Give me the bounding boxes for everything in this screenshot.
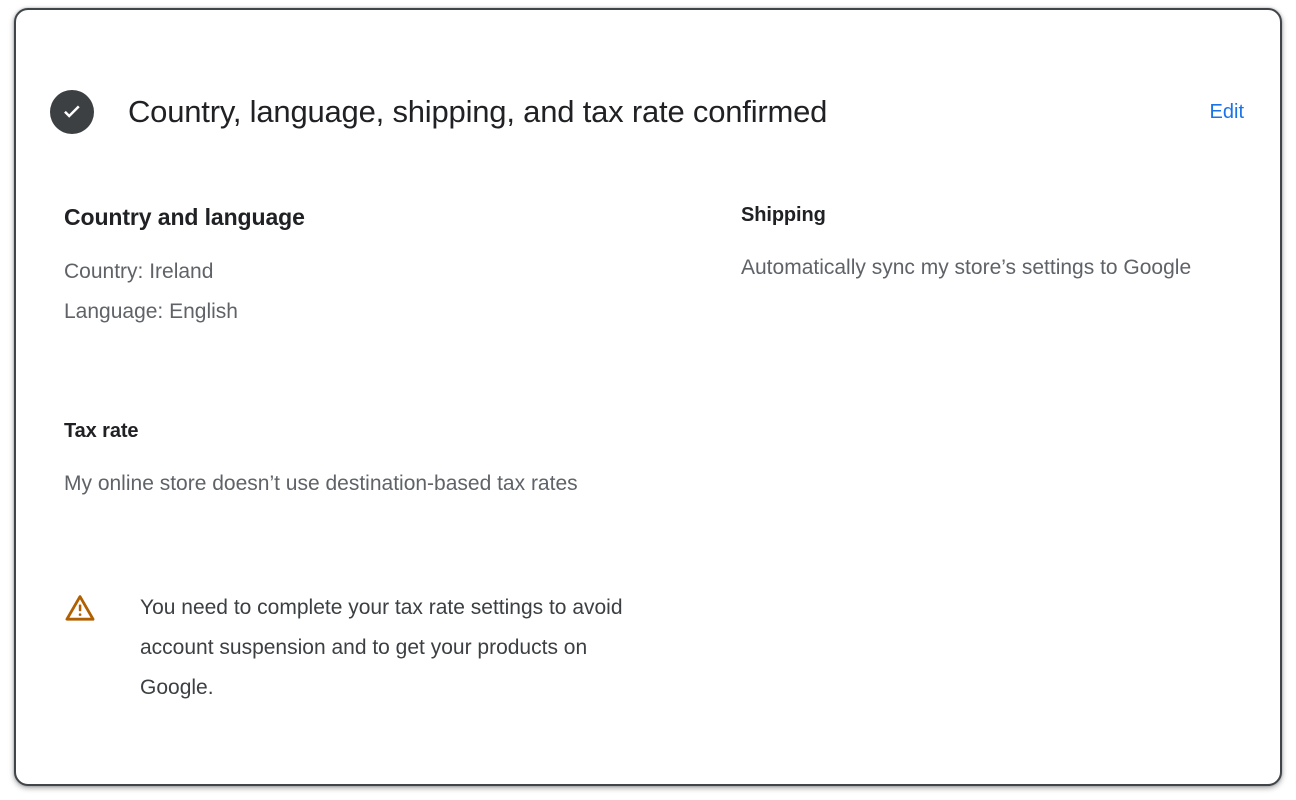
edit-button[interactable]: Edit — [1210, 99, 1246, 125]
warning-triangle-icon — [64, 592, 96, 624]
shipping-heading: Shipping — [741, 202, 1286, 228]
country-value: Country: Ireland — [64, 252, 664, 292]
tax-rate-section: Tax rate My online store doesn’t use des… — [64, 418, 664, 504]
summary-columns: Country and language Country: Ireland La… — [64, 202, 1240, 332]
shipping-section: Shipping Automatically sync my store’s s… — [741, 202, 1286, 288]
page-title: Country, language, shipping, and tax rat… — [128, 92, 1210, 132]
tax-rate-description: My online store doesn’t use destination-… — [64, 464, 584, 504]
country-language-section: Country and language Country: Ireland La… — [64, 202, 664, 332]
country-language-heading: Country and language — [64, 202, 664, 232]
shipping-description: Automatically sync my store’s settings t… — [741, 248, 1271, 288]
check-circle-filled-icon — [50, 90, 94, 134]
language-value: Language: English — [64, 292, 664, 332]
tax-rate-heading: Tax rate — [64, 418, 664, 444]
confirmation-card: Country, language, shipping, and tax rat… — [14, 8, 1282, 786]
screen-root: Country, language, shipping, and tax rat… — [0, 0, 1296, 800]
tax-rate-warning: You need to complete your tax rate setti… — [64, 588, 684, 708]
card-header: Country, language, shipping, and tax rat… — [50, 84, 1246, 140]
warning-message: You need to complete your tax rate setti… — [140, 588, 640, 708]
